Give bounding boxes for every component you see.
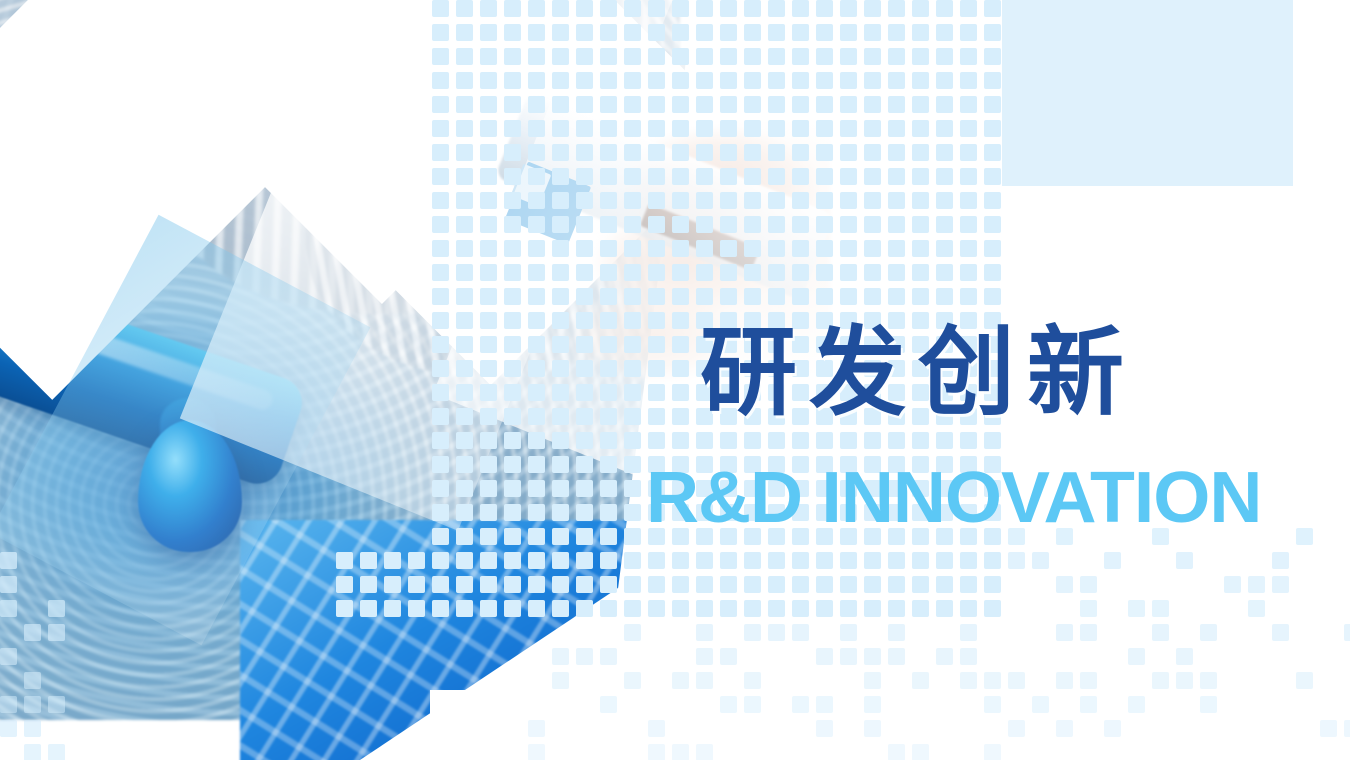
grid-square: [576, 0, 593, 17]
grid-square: [456, 528, 473, 545]
grid-square: [1176, 672, 1193, 689]
grid-square: [480, 456, 497, 473]
grid-square: [552, 600, 569, 617]
grid-square: [960, 24, 977, 41]
grid-square: [600, 168, 617, 185]
grid-square: [480, 384, 497, 401]
grid-square: [648, 48, 665, 65]
grid-square: [480, 600, 497, 617]
grid-square: [936, 24, 953, 41]
grid-square: [432, 96, 449, 113]
grid-square: [624, 144, 641, 161]
grid-square: [768, 264, 785, 281]
grid-square: [600, 480, 617, 497]
grid-square: [864, 216, 881, 233]
grid-square: [672, 360, 689, 377]
grid-square: [720, 72, 737, 89]
grid-square: [552, 384, 569, 401]
grid-square: [600, 504, 617, 521]
grid-square: [576, 360, 593, 377]
grid-square: [816, 168, 833, 185]
grid-square: [936, 120, 953, 137]
grid-square: [792, 120, 809, 137]
grid-square: [864, 120, 881, 137]
grid-square: [912, 576, 929, 593]
grid-square: [744, 72, 761, 89]
grid-square: [672, 72, 689, 89]
grid-square: [744, 552, 761, 569]
grid-square: [816, 600, 833, 617]
grid-square: [648, 360, 665, 377]
grid-square: [816, 552, 833, 569]
grid-square: [576, 456, 593, 473]
grid-square: [960, 48, 977, 65]
grid-square: [768, 144, 785, 161]
grid-square: [792, 144, 809, 161]
grid-square: [888, 24, 905, 41]
grid-square: [744, 216, 761, 233]
grid-square: [576, 552, 593, 569]
grid-square: [768, 432, 785, 449]
grid-square: [696, 624, 713, 641]
grid-square: [768, 576, 785, 593]
grid-square: [744, 288, 761, 305]
grid-square: [960, 0, 977, 17]
grid-square: [960, 552, 977, 569]
grid-square: [528, 744, 545, 760]
grid-square: [600, 648, 617, 665]
grid-square: [672, 144, 689, 161]
grid-square: [936, 648, 953, 665]
grid-square: [600, 192, 617, 209]
grid-square: [888, 240, 905, 257]
grid-square: [840, 576, 857, 593]
grid-square: [552, 648, 569, 665]
grid-square: [744, 144, 761, 161]
grid-square: [1200, 624, 1217, 641]
grid-square: [576, 384, 593, 401]
grid-square: [552, 312, 569, 329]
grid-square: [24, 672, 41, 689]
grid-square: [432, 240, 449, 257]
grid-square: [864, 264, 881, 281]
grid-square: [528, 312, 545, 329]
grid-square: [624, 48, 641, 65]
grid-square: [432, 120, 449, 137]
grid-square: [576, 480, 593, 497]
grid-square: [552, 672, 569, 689]
grid-square: [432, 288, 449, 305]
grid-square: [456, 312, 473, 329]
grid-square: [672, 336, 689, 353]
grid-square: [456, 480, 473, 497]
grid-square: [528, 408, 545, 425]
grid-square: [648, 264, 665, 281]
grid-square: [504, 288, 521, 305]
grid-square: [792, 552, 809, 569]
grid-square: [744, 24, 761, 41]
grid-square: [840, 600, 857, 617]
grid-square: [600, 384, 617, 401]
grid-square: [720, 0, 737, 17]
grid-square: [504, 264, 521, 281]
grid-square: [456, 432, 473, 449]
grid-square: [480, 168, 497, 185]
grid-square: [528, 456, 545, 473]
grid-square: [792, 600, 809, 617]
grid-square: [864, 648, 881, 665]
grid-square: [528, 0, 545, 17]
grid-square: [672, 264, 689, 281]
grid-square: [720, 696, 737, 713]
grid-square: [696, 192, 713, 209]
grid-square: [744, 264, 761, 281]
grid-square: [648, 168, 665, 185]
grid-square: [960, 288, 977, 305]
grid-square: [888, 744, 905, 760]
grid-square: [984, 120, 1001, 137]
grid-square: [912, 48, 929, 65]
grid-square: [480, 504, 497, 521]
grid-square: [576, 168, 593, 185]
grid-square: [864, 192, 881, 209]
grid-square: [552, 552, 569, 569]
grid-square: [744, 48, 761, 65]
grid-square: [1008, 720, 1025, 737]
grid-square: [576, 600, 593, 617]
grid-square: [648, 552, 665, 569]
grid-square: [576, 264, 593, 281]
grid-square: [816, 72, 833, 89]
grid-square: [840, 624, 857, 641]
grid-square: [816, 720, 833, 737]
grid-square: [432, 528, 449, 545]
grid-square: [912, 288, 929, 305]
grid-square: [672, 48, 689, 65]
grid-square: [936, 192, 953, 209]
grid-square: [984, 192, 1001, 209]
grid-square: [456, 48, 473, 65]
grid-square: [840, 552, 857, 569]
grid-square: [600, 120, 617, 137]
grid-square: [576, 216, 593, 233]
grid-square: [432, 24, 449, 41]
grid-square: [1344, 720, 1350, 737]
grid-square: [960, 240, 977, 257]
grid-square: [1200, 672, 1217, 689]
grid-square: [696, 216, 713, 233]
grid-square: [576, 120, 593, 137]
grid-square: [624, 168, 641, 185]
grid-square: [624, 576, 641, 593]
grid-square: [1032, 552, 1049, 569]
grid-square: [720, 168, 737, 185]
grid-square: [552, 480, 569, 497]
grid-square: [576, 72, 593, 89]
grid-square: [696, 72, 713, 89]
grid-square: [0, 600, 17, 617]
grid-square: [1080, 696, 1097, 713]
grid-square: [816, 96, 833, 113]
grid-square: [624, 336, 641, 353]
grid-square: [1296, 672, 1313, 689]
grid-square: [768, 192, 785, 209]
grid-square: [696, 24, 713, 41]
grid-square: [576, 96, 593, 113]
grid-square: [720, 552, 737, 569]
grid-square: [600, 552, 617, 569]
grid-square: [480, 24, 497, 41]
grid-square: [552, 456, 569, 473]
grid-square: [720, 576, 737, 593]
grid-square: [768, 48, 785, 65]
grid-square: [672, 216, 689, 233]
grid-square: [576, 144, 593, 161]
grid-square: [936, 240, 953, 257]
grid-square: [840, 216, 857, 233]
grid-square: [528, 216, 545, 233]
grid-square: [600, 216, 617, 233]
grid-square: [432, 408, 449, 425]
grid-square: [816, 24, 833, 41]
grid-square: [936, 552, 953, 569]
grid-square: [576, 240, 593, 257]
grid-square: [984, 264, 1001, 281]
grid-square: [624, 552, 641, 569]
grid-square: [600, 96, 617, 113]
grid-square: [912, 24, 929, 41]
grid-square: [480, 216, 497, 233]
grid-square: [336, 552, 353, 569]
grid-square: [768, 120, 785, 137]
grid-square: [480, 192, 497, 209]
grid-square: [456, 24, 473, 41]
grid-square: [888, 96, 905, 113]
grid-square: [504, 240, 521, 257]
grid-square: [1008, 672, 1025, 689]
grid-square: [936, 264, 953, 281]
grid-square: [48, 600, 65, 617]
grid-square: [504, 432, 521, 449]
grid-square: [552, 240, 569, 257]
grid-square: [576, 408, 593, 425]
grid-square: [984, 168, 1001, 185]
grid-square: [672, 0, 689, 17]
grid-square: [888, 192, 905, 209]
grid-square: [840, 24, 857, 41]
grid-square: [552, 264, 569, 281]
grid-square: [624, 456, 641, 473]
grid-square: [528, 240, 545, 257]
grid-square: [816, 120, 833, 137]
grid-square: [0, 696, 17, 713]
grid-square: [1080, 576, 1097, 593]
grid-square: [600, 312, 617, 329]
grid-square: [720, 264, 737, 281]
grid-square: [624, 264, 641, 281]
grid-square: [864, 672, 881, 689]
grid-square: [912, 240, 929, 257]
grid-square: [792, 192, 809, 209]
grid-square: [912, 0, 929, 17]
grid-square: [600, 240, 617, 257]
grid-square: [744, 432, 761, 449]
grid-square: [480, 120, 497, 137]
grid-square: [624, 672, 641, 689]
grid-square: [648, 120, 665, 137]
grid-square: [672, 240, 689, 257]
grid-square: [1248, 576, 1265, 593]
grid-square: [960, 600, 977, 617]
grid-square: [888, 552, 905, 569]
grid-square: [480, 576, 497, 593]
grid-square: [864, 72, 881, 89]
grid-square: [1272, 576, 1289, 593]
grid-square: [504, 360, 521, 377]
grid-square: [672, 672, 689, 689]
grid-square: [960, 192, 977, 209]
grid-square: [600, 456, 617, 473]
grid-square: [552, 192, 569, 209]
grid-square: [720, 144, 737, 161]
grid-square: [840, 144, 857, 161]
grid-square: [864, 48, 881, 65]
grid-square: [432, 264, 449, 281]
grid-square: [648, 240, 665, 257]
grid-square: [792, 264, 809, 281]
grid-square: [624, 432, 641, 449]
grid-square: [888, 144, 905, 161]
grid-square: [432, 600, 449, 617]
grid-square: [1272, 624, 1289, 641]
grid-square: [456, 72, 473, 89]
logo-panel: 恒瑞: [1002, 0, 1293, 186]
grid-square: [912, 96, 929, 113]
grid-square: [624, 312, 641, 329]
grid-square: [696, 576, 713, 593]
grid-square: [984, 216, 1001, 233]
grid-square: [792, 240, 809, 257]
grid-square: [576, 528, 593, 545]
grid-square: [528, 264, 545, 281]
grid-square: [816, 288, 833, 305]
grid-square: [552, 360, 569, 377]
grid-square: [696, 48, 713, 65]
grid-square: [504, 528, 521, 545]
grid-square: [528, 72, 545, 89]
grid-square: [456, 456, 473, 473]
grid-square: [888, 168, 905, 185]
grid-square: [504, 72, 521, 89]
grid-square: [984, 696, 1001, 713]
grid-square: [888, 72, 905, 89]
grid-square: [696, 0, 713, 17]
grid-square: [768, 24, 785, 41]
grid-square: [504, 144, 521, 161]
grid-square: [648, 96, 665, 113]
grid-square: [432, 168, 449, 185]
grid-square: [1104, 552, 1121, 569]
grid-square: [480, 288, 497, 305]
grid-square: [576, 336, 593, 353]
grid-square: [384, 576, 401, 593]
grid-square: [672, 288, 689, 305]
grid-square: [1272, 552, 1289, 569]
grid-square: [696, 144, 713, 161]
grid-square: [432, 336, 449, 353]
grid-square: [672, 432, 689, 449]
grid-square: [816, 0, 833, 17]
grid-square: [768, 96, 785, 113]
grid-square: [552, 528, 569, 545]
grid-square: [840, 96, 857, 113]
grid-square: [528, 720, 545, 737]
grid-square: [576, 432, 593, 449]
grid-square: [1176, 648, 1193, 665]
grid-square: [744, 624, 761, 641]
grid-square: [696, 744, 713, 760]
grid-square: [528, 48, 545, 65]
grid-square: [600, 336, 617, 353]
grid-square: [960, 96, 977, 113]
grid-square: [504, 456, 521, 473]
grid-square: [456, 192, 473, 209]
grid-square: [672, 576, 689, 593]
grid-square: [984, 24, 1001, 41]
grid-square: [768, 240, 785, 257]
grid-square: [888, 48, 905, 65]
grid-square: [648, 192, 665, 209]
grid-square: [720, 240, 737, 257]
grid-square: [816, 264, 833, 281]
grid-square: [744, 96, 761, 113]
grid-square: [696, 648, 713, 665]
grid-square: [912, 120, 929, 137]
grid-square: [528, 336, 545, 353]
grid-square: [624, 624, 641, 641]
grid-square: [984, 96, 1001, 113]
grid-square: [336, 600, 353, 617]
grid-square: [720, 96, 737, 113]
grid-square: [384, 600, 401, 617]
grid-square: [600, 576, 617, 593]
grid-square: [912, 144, 929, 161]
grid-square: [1128, 648, 1145, 665]
grid-square: [648, 216, 665, 233]
grid-square: [792, 0, 809, 17]
grid-square: [336, 576, 353, 593]
grid-square: [528, 552, 545, 569]
grid-square: [672, 96, 689, 113]
page-title-cn: 研发创新: [700, 324, 1136, 421]
grid-square: [696, 168, 713, 185]
grid-square: [864, 0, 881, 17]
grid-square: [984, 240, 1001, 257]
grid-square: [1056, 672, 1073, 689]
grid-square: [1032, 696, 1049, 713]
grid-square: [1128, 696, 1145, 713]
grid-square: [432, 456, 449, 473]
grid-square: [984, 72, 1001, 89]
grid-square: [792, 48, 809, 65]
grid-square: [984, 48, 1001, 65]
grid-square: [528, 384, 545, 401]
grid-square: [648, 24, 665, 41]
grid-square: [696, 552, 713, 569]
grid-square: [504, 96, 521, 113]
grid-square: [648, 288, 665, 305]
grid-square: [504, 168, 521, 185]
